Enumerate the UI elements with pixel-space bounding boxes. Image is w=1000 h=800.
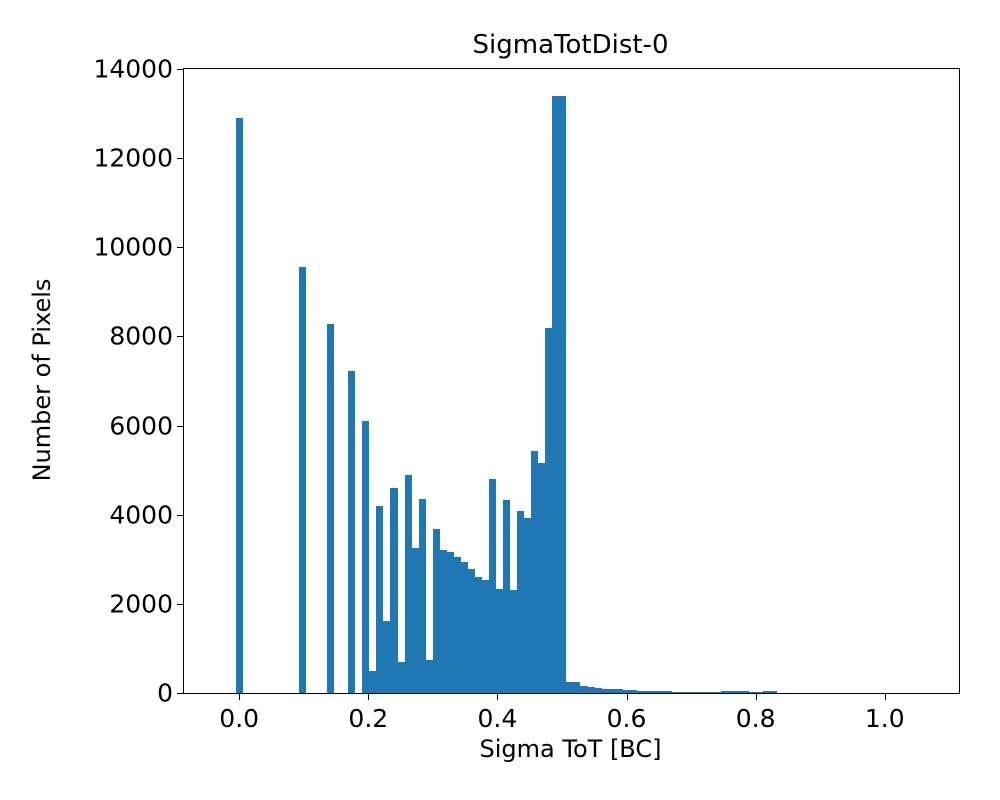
histogram-bar <box>440 550 447 693</box>
y-tick-mark <box>177 336 184 337</box>
histogram-bar <box>630 690 637 693</box>
x-tick-mark <box>239 693 240 700</box>
y-tick-mark <box>177 247 184 248</box>
histogram-bar <box>573 682 580 693</box>
histogram-bar <box>721 691 728 693</box>
histogram-bar <box>700 692 707 693</box>
histogram-bar <box>742 691 749 693</box>
histogram-bar <box>588 687 595 693</box>
histogram-bar <box>383 621 390 693</box>
histogram-bar <box>362 421 369 693</box>
y-tick-label: 10000 <box>93 233 173 262</box>
histogram-bar <box>433 529 440 693</box>
histogram-bar <box>538 463 545 693</box>
y-tick-mark <box>177 69 184 70</box>
x-tick-label: 0.2 <box>348 704 388 733</box>
x-tick-label: 0.4 <box>478 704 518 733</box>
y-tick-label: 2000 <box>109 589 173 618</box>
histogram-bar <box>651 691 658 693</box>
x-tick-mark <box>885 693 886 700</box>
x-tick-mark <box>368 693 369 700</box>
x-tick-mark <box>756 693 757 700</box>
page-title: SigmaTotDist-0 <box>183 30 958 60</box>
histogram-bar <box>595 688 602 693</box>
histogram-bar <box>609 689 616 693</box>
histogram-bar <box>517 511 524 693</box>
histogram-bar <box>707 692 714 693</box>
y-tick-label: 0 <box>157 679 173 708</box>
y-tick-label: 12000 <box>93 144 173 173</box>
histogram-bar <box>327 324 334 693</box>
histogram-bar <box>728 691 735 693</box>
histogram-bar <box>412 548 419 693</box>
y-tick-label: 8000 <box>109 322 173 351</box>
histogram-bar <box>672 692 679 693</box>
y-tick-mark <box>177 158 184 159</box>
histogram-bar <box>390 488 397 693</box>
histogram-bar <box>735 691 742 693</box>
y-axis-label: Number of Pixels <box>28 279 56 482</box>
histogram-bar <box>503 500 510 693</box>
histogram-bar <box>714 692 721 693</box>
x-axis-label: Sigma ToT [BC] <box>183 735 958 763</box>
histogram-bar <box>398 662 405 693</box>
histogram-bar <box>524 518 531 693</box>
histogram-bar <box>348 371 355 693</box>
histogram-bar <box>616 689 623 693</box>
histogram-bar <box>419 499 426 693</box>
histogram-bar <box>637 691 644 693</box>
histogram-bar <box>580 686 587 693</box>
x-tick-mark <box>627 693 628 700</box>
histogram-bar <box>644 691 651 693</box>
histogram-bar <box>236 118 243 693</box>
histogram-bar <box>510 590 517 693</box>
histogram-bar <box>405 475 412 693</box>
histogram-bar <box>482 580 489 693</box>
histogram-bar <box>531 451 538 693</box>
histogram-bar <box>658 691 665 693</box>
figure-canvas: SigmaTotDist-0 0200040006000800010000120… <box>0 0 1000 800</box>
y-tick-mark <box>177 604 184 605</box>
y-tick-mark <box>177 693 184 694</box>
histogram-bar <box>770 691 777 693</box>
histogram-bar <box>376 506 383 693</box>
histogram-bar <box>447 552 454 693</box>
histogram-bar <box>545 328 552 693</box>
histogram-bar <box>679 692 686 693</box>
x-tick-label: 0.6 <box>607 704 647 733</box>
histogram-bar <box>475 577 482 693</box>
histogram-bar <box>552 96 559 693</box>
histogram-bar <box>559 96 566 693</box>
y-tick-mark <box>177 515 184 516</box>
histogram-bar <box>693 692 700 693</box>
y-tick-mark <box>177 426 184 427</box>
x-tick-label: 0.8 <box>736 704 776 733</box>
histogram-bar <box>665 691 672 693</box>
x-tick-label: 1.0 <box>865 704 905 733</box>
x-tick-label: 0.0 <box>219 704 259 733</box>
histogram-bar <box>299 267 306 693</box>
histogram-bar <box>686 692 693 693</box>
histogram-bar <box>461 562 468 693</box>
plot-axes: 02000400060008000100001200014000 0.00.20… <box>183 68 960 694</box>
histogram-bar <box>489 479 496 693</box>
histogram-bar <box>468 569 475 693</box>
histogram-bar <box>566 682 573 693</box>
histogram-bar <box>426 660 433 693</box>
histogram-bar <box>369 671 376 693</box>
histogram-bar <box>496 589 503 693</box>
histogram-bar <box>756 692 763 693</box>
histogram-bar <box>763 691 770 693</box>
y-tick-label: 6000 <box>109 411 173 440</box>
y-tick-label: 4000 <box>109 500 173 529</box>
y-tick-label: 14000 <box>93 55 173 84</box>
histogram-bar <box>454 557 461 693</box>
histogram-bar <box>602 689 609 693</box>
x-tick-mark <box>497 693 498 700</box>
histogram-bars <box>184 69 959 693</box>
